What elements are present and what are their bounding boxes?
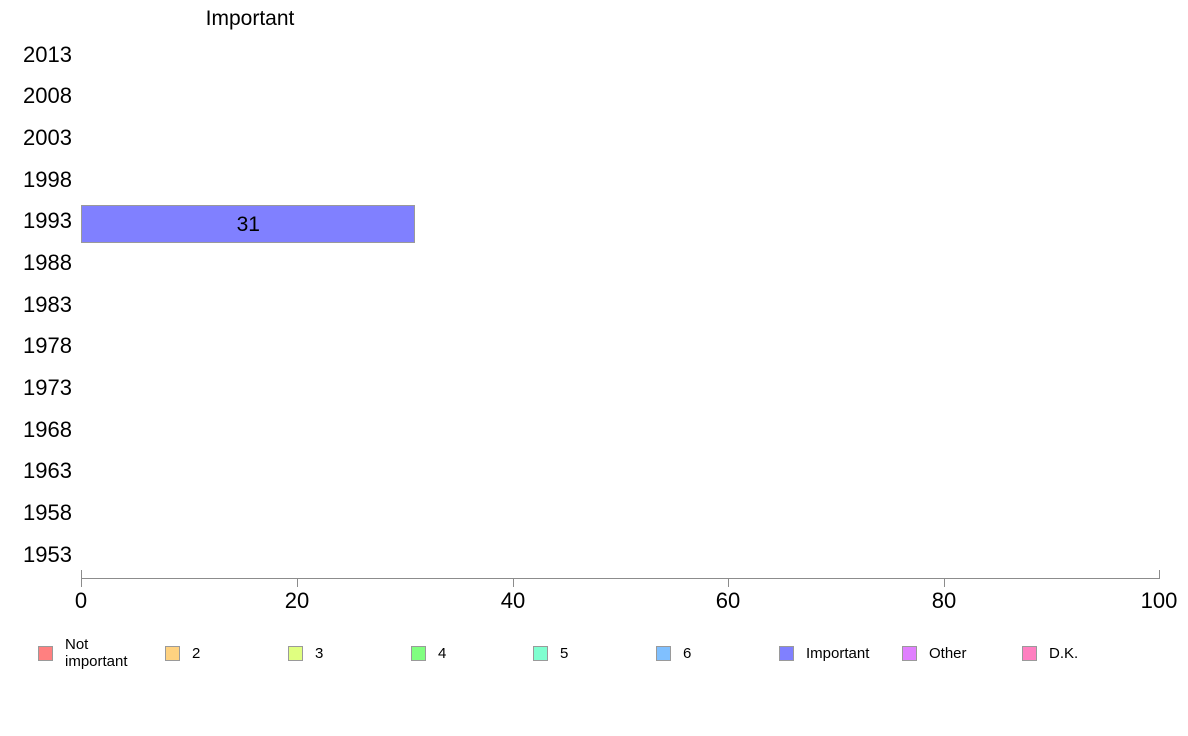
y-axis-label-1958: 1958 — [0, 500, 72, 526]
x-axis-tick-40 — [513, 578, 514, 587]
x-axis-label-60: 60 — [716, 588, 740, 614]
chart-legend: Not important 2 3 4 5 6 Important — [0, 628, 1188, 688]
chart-title: Important — [0, 6, 500, 32]
legend-swatch-icon-6 — [656, 646, 671, 661]
y-axis-label-1998: 1998 — [0, 167, 72, 193]
legend-swatch-icon-4 — [411, 646, 426, 661]
x-axis-tick-80 — [944, 578, 945, 587]
legend-label-2: 2 — [192, 645, 200, 662]
y-axis-label-1978: 1978 — [0, 333, 72, 359]
bar-important-1993[interactable]: 31 — [81, 205, 415, 243]
legend-item-important[interactable]: Important — [779, 628, 869, 678]
y-axis-label-1973: 1973 — [0, 375, 72, 401]
legend-swatch-icon-not-important — [38, 646, 53, 661]
x-axis-label-0: 0 — [75, 588, 87, 614]
y-axis-label-2013: 2013 — [0, 42, 72, 68]
y-axis-label-1988: 1988 — [0, 250, 72, 276]
x-axis-label-20: 20 — [285, 588, 309, 614]
y-axis-label-1983: 1983 — [0, 292, 72, 318]
legend-item-other[interactable]: Other — [902, 628, 967, 678]
y-axis-label-1968: 1968 — [0, 417, 72, 443]
legend-label-4: 4 — [438, 645, 446, 662]
plot-area: 31 — [81, 36, 1160, 578]
legend-label-important: Important — [806, 645, 869, 662]
legend-item-dk[interactable]: D.K. — [1022, 628, 1078, 678]
x-axis-label-40: 40 — [501, 588, 525, 614]
legend-swatch-icon-2 — [165, 646, 180, 661]
y-axis-label-1963: 1963 — [0, 458, 72, 484]
legend-item-not-important[interactable]: Not important — [38, 628, 128, 678]
legend-label-other: Other — [929, 645, 967, 662]
bar-chart: Important 2013 2008 2003 1998 1993 1988 … — [0, 0, 1188, 736]
legend-item-6[interactable]: 6 — [656, 628, 691, 678]
y-axis-category-labels: 2013 2008 2003 1998 1993 1988 1983 1978 … — [0, 36, 72, 578]
x-axis-tick-60 — [728, 578, 729, 587]
x-axis-tick-0 — [81, 578, 82, 587]
legend-label-dk: D.K. — [1049, 645, 1078, 662]
x-axis-label-80: 80 — [932, 588, 956, 614]
legend-swatch-icon-important — [779, 646, 794, 661]
legend-item-4[interactable]: 4 — [411, 628, 446, 678]
legend-item-5[interactable]: 5 — [533, 628, 568, 678]
legend-item-3[interactable]: 3 — [288, 628, 323, 678]
y-axis-label-1953: 1953 — [0, 542, 72, 568]
legend-label-5: 5 — [560, 645, 568, 662]
y-axis-label-1993: 1993 — [0, 208, 72, 234]
legend-label-not-important: Not important — [65, 636, 128, 670]
x-axis-tick-end — [1159, 570, 1160, 579]
x-axis-tick-20 — [297, 578, 298, 587]
legend-swatch-icon-other — [902, 646, 917, 661]
legend-swatch-icon-3 — [288, 646, 303, 661]
bar-value-label-1993: 31 — [82, 206, 414, 244]
x-axis-label-100: 100 — [1141, 588, 1178, 614]
legend-swatch-icon-5 — [533, 646, 548, 661]
legend-item-2[interactable]: 2 — [165, 628, 200, 678]
y-axis-label-2003: 2003 — [0, 125, 72, 151]
y-axis-label-2008: 2008 — [0, 83, 72, 109]
legend-label-3: 3 — [315, 645, 323, 662]
legend-label-6: 6 — [683, 645, 691, 662]
legend-swatch-icon-dk — [1022, 646, 1037, 661]
x-axis-line — [81, 578, 1160, 579]
